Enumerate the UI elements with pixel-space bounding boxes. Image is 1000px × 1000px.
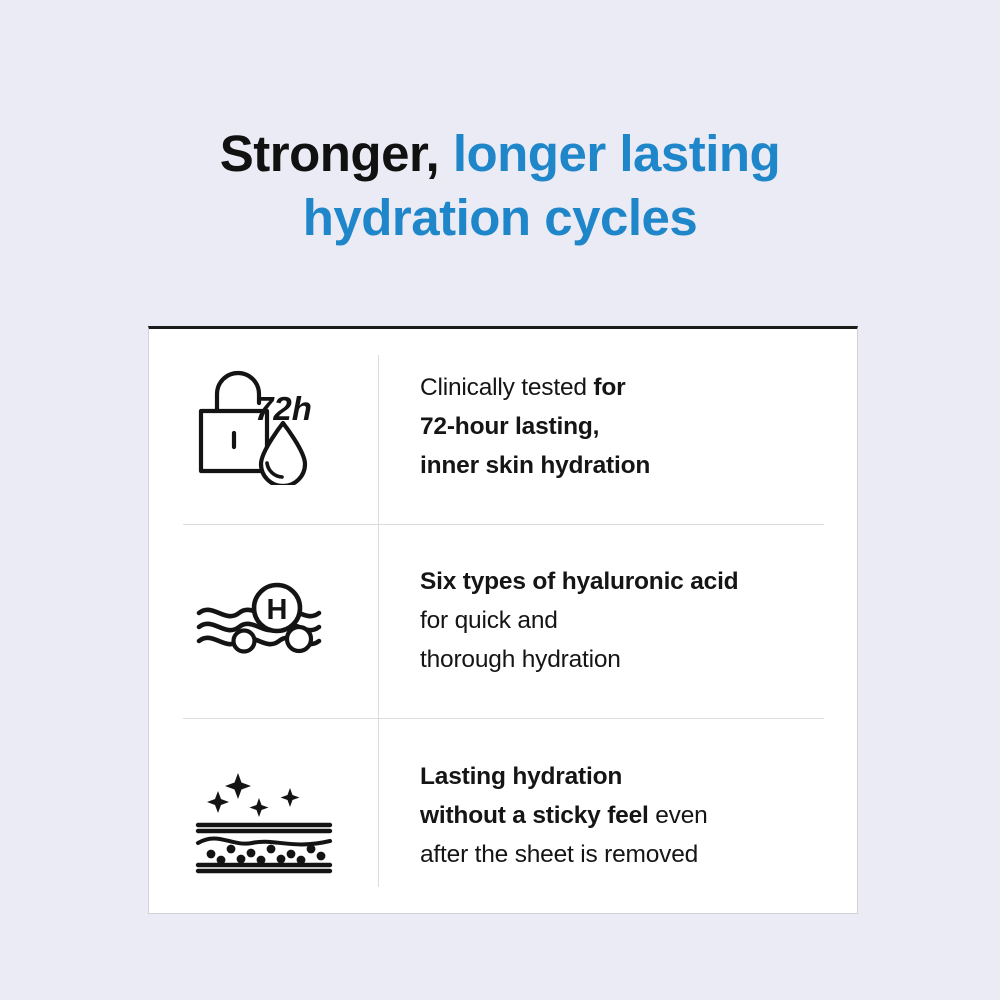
benefit-text-line: Six types of hyaluronic acid bbox=[420, 562, 841, 601]
benefit-icon-cell: 72h bbox=[149, 367, 379, 485]
benefit-text-line: after the sheet is removed bbox=[420, 835, 841, 874]
benefit-text-line: 72-hour lasting, bbox=[420, 407, 841, 446]
benefit-text-line: inner skin hydration bbox=[420, 446, 841, 485]
page-title: Stronger, longer lasting hydration cycle… bbox=[0, 122, 1000, 250]
page-title-blue-segment-line2: hydration cycles bbox=[0, 186, 1000, 250]
benefit-text-line: for quick and bbox=[420, 601, 841, 640]
benefit-text-bold: for bbox=[593, 374, 625, 401]
benefits-card: 72h Clinically tested for 72-hour lastin… bbox=[148, 326, 858, 914]
page-title-black-segment: Stronger, bbox=[220, 125, 439, 182]
benefit-text-bold: Lasting hydration bbox=[420, 763, 622, 790]
benefit-text-cell: Six types of hyaluronic acid for quick a… bbox=[379, 562, 857, 679]
water-waves-hyaluronic-h-icon: H bbox=[193, 575, 335, 667]
benefit-text-line: thorough hydration bbox=[420, 640, 841, 679]
hydration-dots-group bbox=[207, 844, 326, 864]
sparkles-group bbox=[207, 773, 300, 817]
benefit-row-non-sticky: Lasting hydration without a sticky feel … bbox=[149, 718, 857, 913]
benefit-text-line: without a sticky feel even bbox=[420, 796, 841, 835]
benefit-text-regular: even bbox=[649, 802, 708, 829]
benefit-text-bold: inner skin hydration bbox=[420, 452, 650, 479]
benefit-text-bold: without a sticky feel bbox=[420, 802, 649, 829]
benefit-text-line: Clinically tested for bbox=[420, 368, 841, 407]
benefit-text-bold: Six types of hyaluronic acid bbox=[420, 568, 738, 595]
benefit-text-cell: Clinically tested for 72-hour lasting, i… bbox=[379, 368, 857, 485]
row-vertical-divider bbox=[378, 524, 379, 719]
benefit-text-line: Lasting hydration bbox=[420, 757, 841, 796]
hyaluronic-h-label: H bbox=[267, 594, 288, 626]
skin-layers-sparkle-icon bbox=[194, 757, 334, 875]
padlock-droplet-72h-icon: 72h bbox=[197, 367, 331, 485]
benefit-row-72h: 72h Clinically tested for 72-hour lastin… bbox=[149, 329, 857, 524]
benefit-text-regular: thorough hydration bbox=[420, 646, 621, 673]
benefit-text-cell: Lasting hydration without a sticky feel … bbox=[379, 757, 857, 874]
infographic-page: Stronger, longer lasting hydration cycle… bbox=[0, 0, 1000, 1000]
bubble-small-left bbox=[234, 630, 255, 651]
benefit-text-regular: Clinically tested bbox=[420, 374, 593, 401]
benefit-row-hyaluronic: H Six types of hyaluronic acid for quick… bbox=[149, 524, 857, 719]
row-vertical-divider bbox=[378, 355, 379, 524]
benefit-icon-cell: H bbox=[149, 575, 379, 667]
row-vertical-divider bbox=[378, 718, 379, 887]
page-title-blue-segment-line1: longer lasting bbox=[439, 125, 780, 182]
benefit-text-bold: 72-hour lasting, bbox=[420, 413, 599, 440]
benefit-text-regular: for quick and bbox=[420, 607, 558, 634]
benefit-text-regular: after the sheet is removed bbox=[420, 841, 698, 868]
bubble-small-right bbox=[287, 627, 311, 651]
benefit-icon-cell bbox=[149, 757, 379, 875]
